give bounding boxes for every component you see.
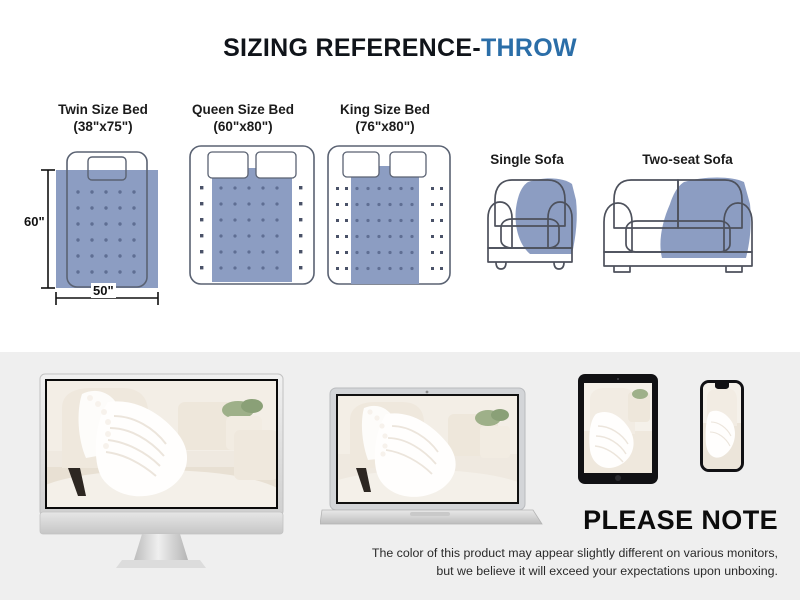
- bed-label-king-dimensions: (76"x80"): [305, 118, 465, 135]
- bed-label-king: King Size Bed (76"x80"): [305, 101, 465, 135]
- sofa-label-single: Single Sofa: [452, 152, 602, 167]
- device-laptop: [320, 384, 545, 532]
- color-disclaimer-line2: but we believe it will exceed your expec…: [436, 564, 778, 578]
- single-sofa-diagram: [460, 170, 600, 282]
- bed-label-twin-name: Twin Size Bed: [23, 101, 183, 118]
- two-seat-sofa-throw: [660, 178, 750, 259]
- page-title-accent: THROW: [481, 34, 577, 62]
- page-title: SIZING REFERENCE-THROW: [0, 34, 800, 63]
- tablet-home-button: [615, 475, 621, 481]
- twin-height-dimension-line: [41, 170, 55, 288]
- bed-label-queen-name: Queen Size Bed: [163, 101, 323, 118]
- bed-label-queen-dimensions: (60"x80"): [163, 118, 323, 135]
- device-desktop-monitor: [38, 372, 288, 572]
- color-disclaimer-text: The color of this product may appear sli…: [218, 544, 778, 580]
- two-seat-sofa-left-leg: [614, 266, 630, 272]
- device-phone: [700, 380, 744, 472]
- two-seat-sofa-right-leg: [726, 266, 742, 272]
- sofa-label-two-seat: Two-seat Sofa: [605, 152, 770, 167]
- king-throw-overlay: [351, 166, 419, 284]
- twin-throw-overlay: [56, 170, 158, 288]
- sizing-reference-panel: SIZING REFERENCE-THROW Twin Size Bed (38…: [0, 0, 800, 352]
- single-sofa-left-arm: [488, 202, 512, 248]
- bed-label-king-name: King Size Bed: [305, 101, 465, 118]
- laptop-trackpad-notch: [410, 512, 450, 516]
- single-sofa-left-leg: [496, 262, 506, 269]
- throw-width-label: 50": [91, 283, 116, 298]
- page-title-primary: SIZING REFERENCE-: [223, 34, 481, 62]
- single-sofa-right-leg: [554, 262, 564, 269]
- queen-throw-overlay: [212, 168, 292, 282]
- monitor-stand-neck: [134, 534, 188, 560]
- tablet-camera-icon: [617, 378, 619, 380]
- single-sofa-throw: [516, 178, 577, 254]
- bed-label-twin-dimensions: (38"x75"): [23, 118, 183, 135]
- throw-height-label: 60": [22, 214, 47, 229]
- monitor-stand-base: [116, 560, 206, 568]
- device-tablet: [578, 374, 658, 484]
- tablet-product-photo: [584, 383, 652, 473]
- please-note-panel: PLEASE NOTE The color of this product ma…: [0, 352, 800, 600]
- phone-product-photo: [703, 383, 741, 469]
- king-bed-diagram: [326, 144, 452, 286]
- phone-notch: [715, 383, 729, 389]
- two-seat-sofa-diagram: [592, 170, 778, 282]
- color-disclaimer-line1: The color of this product may appear sli…: [372, 546, 778, 560]
- please-note-heading: PLEASE NOTE: [583, 505, 778, 536]
- bed-label-queen: Queen Size Bed (60"x80"): [163, 101, 323, 135]
- bed-label-twin: Twin Size Bed (38"x75"): [23, 101, 183, 135]
- queen-bed-diagram: [186, 144, 318, 286]
